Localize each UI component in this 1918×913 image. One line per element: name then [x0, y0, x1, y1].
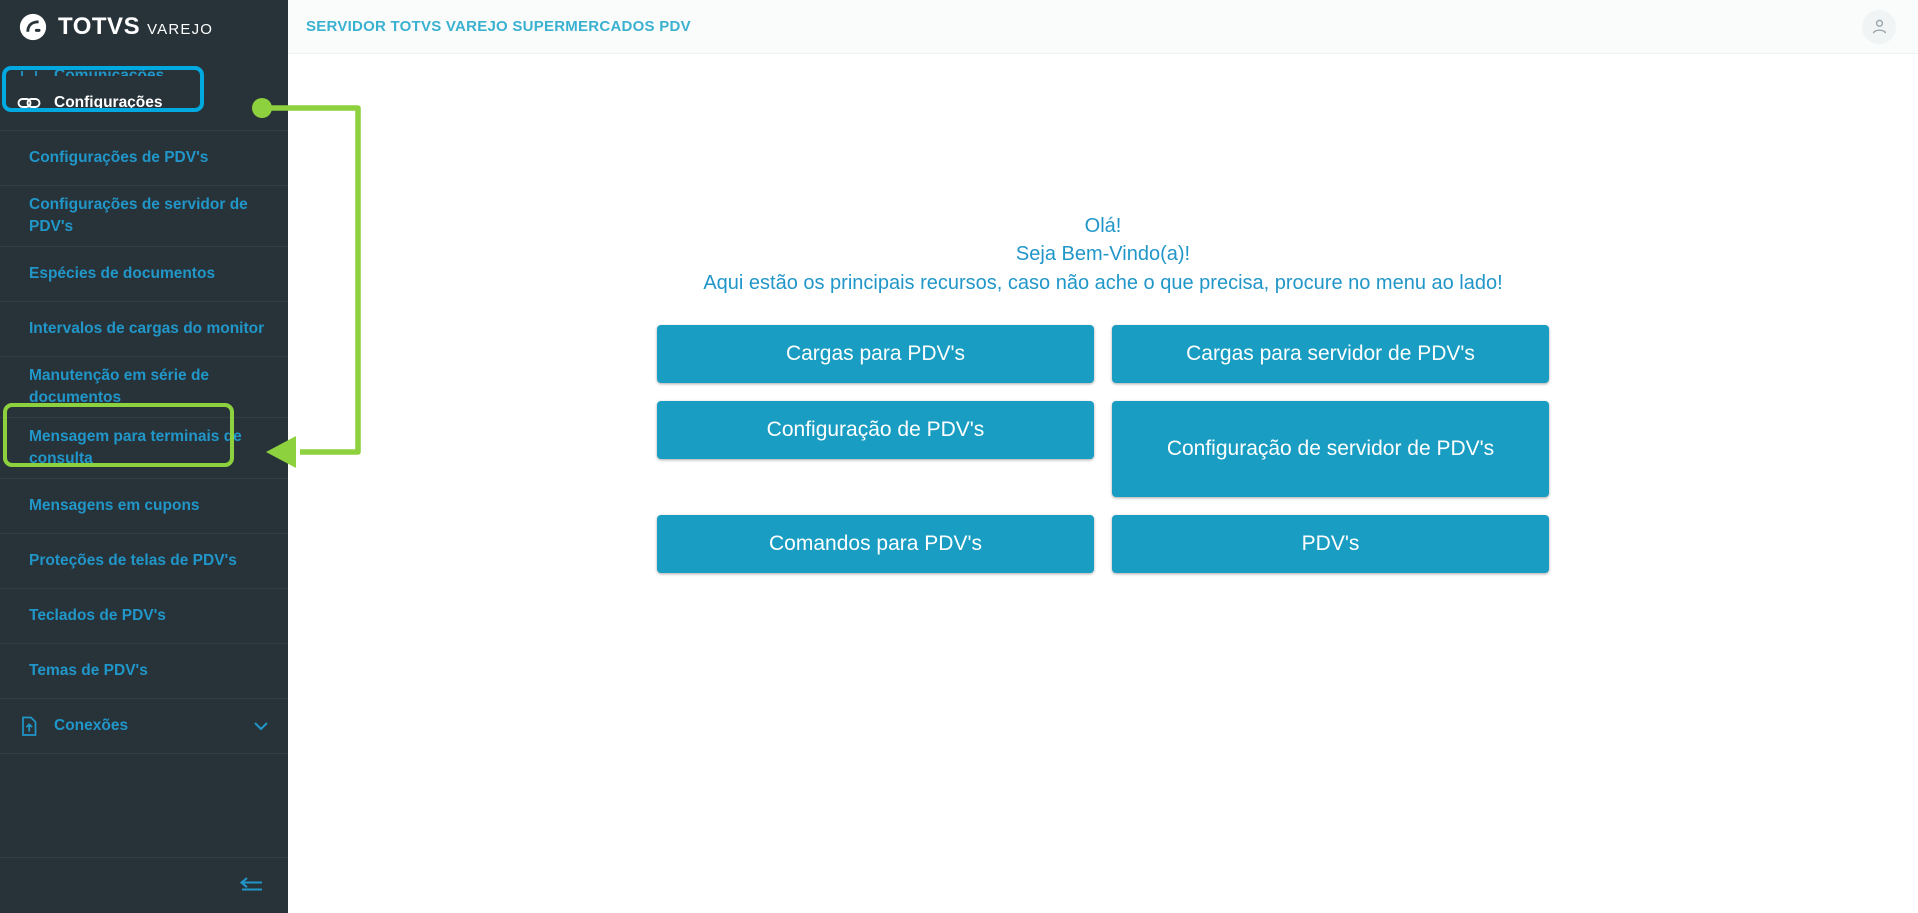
tile-pdvs[interactable]: PDV's [1112, 515, 1549, 573]
sidebar-item-manutencao-em-serie-de-documentos[interactable]: Manutenção em série de documentos [0, 357, 288, 418]
user-avatar-icon[interactable] [1862, 10, 1896, 44]
main-area: SERVIDOR TOTVS VAREJO SUPERMERCADOS PDV … [288, 0, 1918, 913]
brand-name: TOTVS [58, 15, 140, 39]
topbar: SERVIDOR TOTVS VAREJO SUPERMERCADOS PDV [288, 0, 1918, 54]
sidebar-item-label: Teclados de PDV's [29, 605, 270, 627]
sidebar-item-label: Intervalos de cargas do monitor [29, 318, 270, 340]
sidebar-item-label: Mensagens em cupons [29, 495, 270, 517]
shortcut-tile-grid: Cargas para PDV's Cargas para servidor d… [657, 325, 1549, 573]
tile-cargas-para-pdvs[interactable]: Cargas para PDV's [657, 325, 1094, 383]
sidebar-item-label: Configurações de servidor de PDV's [29, 194, 270, 238]
brand-logo-area: TOTVS VAREJO [0, 0, 288, 54]
sidebar-item-configuracoes-de-pdvs[interactable]: Configurações de PDV's [0, 131, 288, 186]
sidebar-item-mensagens-em-cupons[interactable]: Mensagens em cupons [0, 479, 288, 534]
sidebar-item-label: Mensagem para terminais de consulta [29, 426, 270, 470]
sidebar-item-label: Temas de PDV's [29, 660, 270, 682]
tile-comandos-para-pdvs[interactable]: Comandos para PDV's [657, 515, 1094, 573]
sidebar-item-label: Manutenção em série de documentos [29, 365, 270, 409]
dashboard-content: Olá! Seja Bem-Vindo(a)! Aqui estão os pr… [288, 54, 1918, 913]
sidebar-item-conexoes[interactable]: Conexões [0, 699, 288, 754]
welcome-line-3: Aqui estão os principais recursos, caso … [703, 269, 1502, 297]
sidebar-item-teclados-de-pdvs[interactable]: Teclados de PDV's [0, 589, 288, 644]
chevron-down-icon[interactable] [254, 722, 270, 731]
welcome-line-1: Olá! [703, 212, 1502, 240]
tile-cargas-para-servidor-de-pdvs[interactable]: Cargas para servidor de PDV's [1112, 325, 1549, 383]
welcome-message: Olá! Seja Bem-Vindo(a)! Aqui estão os pr… [703, 212, 1502, 297]
sidebar-item-temas-de-pdvs[interactable]: Temas de PDV's [0, 644, 288, 699]
communications-icon [16, 65, 42, 76]
sidebar-item-intervalos-de-cargas-do-monitor[interactable]: Intervalos de cargas do monitor [0, 302, 288, 357]
document-upload-icon [16, 715, 42, 737]
sidebar-item-label: Conexões [54, 715, 254, 737]
sidebar-item-label: Configurações [54, 92, 270, 114]
tile-configuracao-de-servidor-de-pdvs[interactable]: Configuração de servidor de PDV's [1112, 401, 1549, 497]
sidebar-item-mensagem-para-terminais-de-consulta[interactable]: Mensagem para terminais de consulta [0, 418, 288, 479]
sidebar-item-protecoes-de-telas-de-pdvs[interactable]: Proteções de telas de PDV's [0, 534, 288, 589]
sidebar-item-especies-de-documentos[interactable]: Espécies de documentos [0, 247, 288, 302]
sidebar-item-label: Configurações de PDV's [29, 147, 270, 169]
link-chain-icon [16, 92, 42, 114]
collapse-sidebar-icon[interactable] [238, 877, 264, 895]
tile-configuracao-de-pdvs[interactable]: Configuração de PDV's [657, 401, 1094, 459]
sidebar-item-label: Comunicações [54, 65, 254, 76]
sidebar-item-label: Espécies de documentos [29, 263, 270, 285]
sidebar-footer [0, 857, 288, 913]
sidebar-menu: Comunicações Configurações Configurações… [0, 54, 288, 857]
sidebar: TOTVS VAREJO Comunicações [0, 0, 288, 913]
welcome-line-2: Seja Bem-Vindo(a)! [703, 240, 1502, 268]
totvs-logo-icon [18, 12, 48, 42]
page-title: SERVIDOR TOTVS VAREJO SUPERMERCADOS PDV [306, 18, 1862, 35]
application-window: TOTVS VAREJO Comunicações [0, 0, 1918, 913]
sidebar-item-configuracoes[interactable]: Configurações [0, 76, 288, 131]
brand-suffix: VAREJO [147, 22, 213, 37]
sidebar-item-comunicacoes[interactable]: Comunicações [0, 54, 288, 76]
sidebar-item-configuracoes-de-servidor-de-pdvs[interactable]: Configurações de servidor de PDV's [0, 186, 288, 247]
sidebar-item-label: Proteções de telas de PDV's [29, 550, 270, 572]
